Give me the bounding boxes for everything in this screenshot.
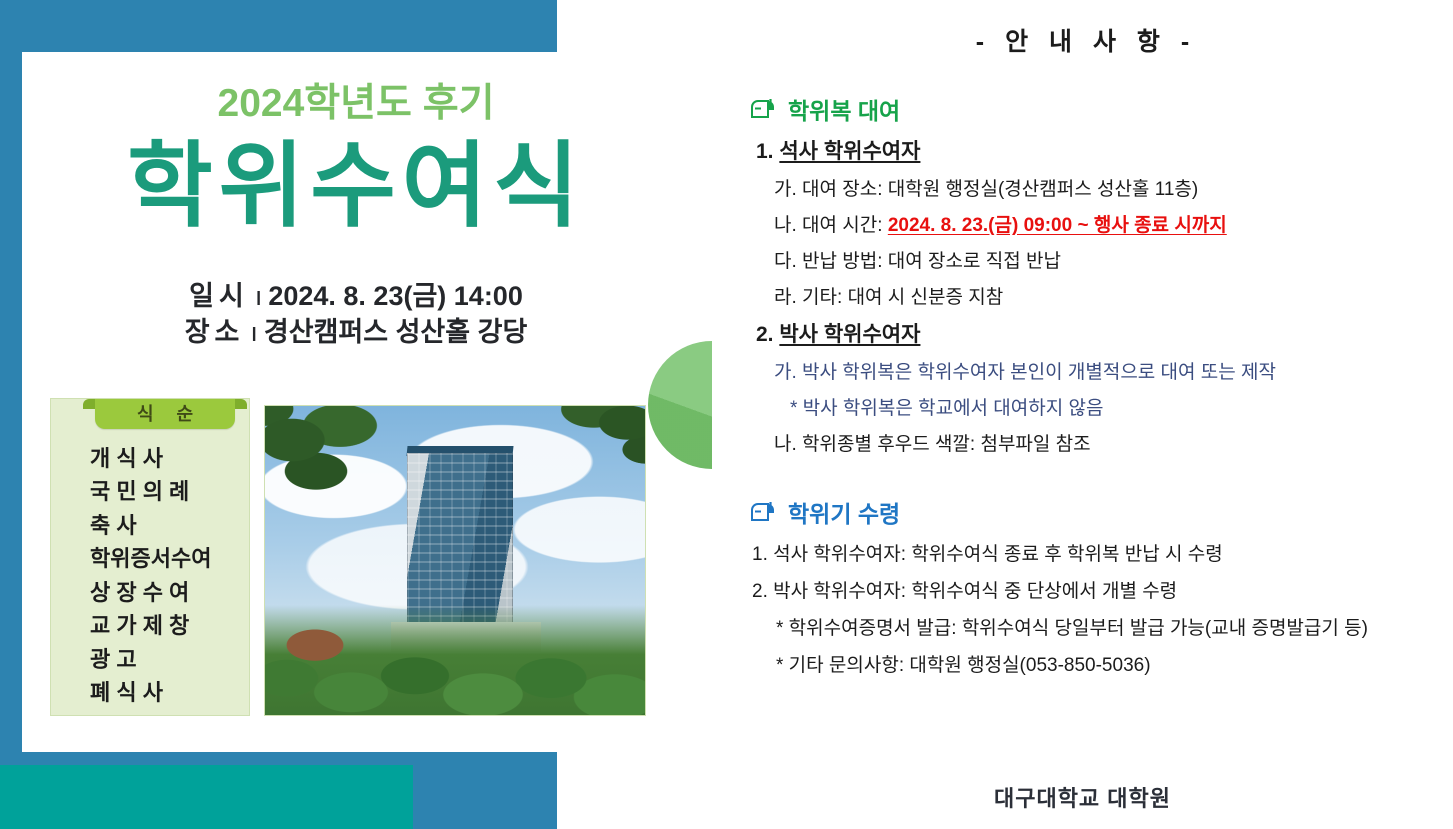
poster-datetime-value: 2024. 8. 23(금) 14:00 bbox=[268, 281, 523, 311]
poster-venue-row: 장소ı경산캠퍼스 성산홀 강당 bbox=[0, 314, 712, 350]
section-diploma-pickup-label: 학위기 수령 bbox=[788, 495, 900, 529]
section-gown-rental-title: 학위복 대여 bbox=[750, 92, 1440, 126]
rental-other-marker: 라. bbox=[774, 287, 797, 308]
diploma-contact-note: * 기타 문의사항: 대학원 행정실(053-850-5036) bbox=[776, 650, 1440, 677]
rental-location-row: 가. 대여 장소: 대학원 행정실(경산캠퍼스 성산홀 11층) bbox=[774, 174, 1440, 201]
program-list: 개 식 사 국 민 의 례 축 사 학위증서수여 상 장 수 여 교 가 제 창… bbox=[60, 442, 240, 710]
mailbox-icon bbox=[750, 501, 776, 523]
doctoral-hood-color-row: 나. 학위종별 후우드 색깔: 첨부파일 참조 bbox=[774, 429, 1440, 456]
program-list-item: 상 장 수 여 bbox=[60, 576, 230, 609]
poster-datetime-label: 일시 bbox=[189, 281, 249, 311]
rental-time-prefix: 대여 시간: bbox=[802, 215, 888, 236]
campus-building-photo bbox=[264, 405, 646, 716]
diploma-certificate-note: * 학위수여증명서 발급: 학위수여식 당일부터 발급 가능(교내 증명발급기 … bbox=[776, 613, 1440, 640]
rental-location-text: 대여 장소: 대학원 행정실(경산캠퍼스 성산홀 11층) bbox=[802, 179, 1198, 200]
rental-other-row: 라. 기타: 대여 시 신분증 지참 bbox=[774, 282, 1440, 309]
doctoral-number: 2. bbox=[756, 323, 774, 346]
masters-label: 석사 학위수여자 bbox=[779, 140, 920, 163]
rental-time-marker: 나. bbox=[774, 215, 797, 236]
poster-teal-block bbox=[0, 765, 413, 829]
mailbox-icon bbox=[750, 98, 776, 120]
program-list-item: 학위증서수여 bbox=[60, 542, 230, 575]
poster-blue-top-band bbox=[0, 0, 557, 52]
program-list-item: 축 사 bbox=[60, 509, 230, 542]
poster-main-title: 학위수여식 bbox=[0, 135, 712, 237]
rental-return-text: 반납 방법: 대여 장소로 직접 반납 bbox=[802, 251, 1061, 272]
section-diploma-pickup-title: 학위기 수령 bbox=[750, 495, 1440, 529]
poster-venue-separator: ı bbox=[244, 317, 264, 347]
notice-body: 학위복 대여 1. 석사 학위수여자 가. 대여 장소: 대학원 행정실(경산캠… bbox=[750, 92, 1440, 687]
rental-time-highlight: 2024. 8. 23.(금) 09:00 ~ 행사 종료 시까지 bbox=[888, 215, 1227, 236]
rental-time-row: 나. 대여 시간: 2024. 8. 23.(금) 09:00 ~ 행사 종료 … bbox=[774, 210, 1440, 237]
poster-datetime-row: 일시ı2024. 8. 23(금) 14:00 bbox=[0, 278, 712, 314]
rental-location-marker: 가. bbox=[774, 179, 797, 200]
graduation-poster: 2024학년도 후기 학위수여식 일시ı2024. 8. 23(금) 14:00… bbox=[0, 0, 712, 829]
notice-footer-organization: 대구대학교 대학원 bbox=[712, 781, 1453, 813]
poster-datetime-separator: ı bbox=[249, 281, 269, 311]
diploma-masters-line: 1. 석사 학위수여자: 학위수여식 종료 후 학위복 반납 시 수령 bbox=[752, 539, 1440, 566]
program-list-item: 개 식 사 bbox=[60, 442, 230, 475]
poster-year-line: 2024학년도 후기 bbox=[0, 84, 712, 123]
program-list-item: 교 가 제 창 bbox=[60, 609, 230, 642]
doctoral-gown-note: * 박사 학위복은 학교에서 대여하지 않음 bbox=[790, 393, 1440, 420]
rental-other-text: 기타: 대여 시 신분증 지참 bbox=[802, 287, 1003, 308]
program-list-item: 국 민 의 례 bbox=[60, 475, 230, 508]
masters-degree-heading: 1. 석사 학위수여자 bbox=[756, 135, 1440, 165]
photo-tree-top-left bbox=[264, 405, 397, 512]
green-half-circle-decoration bbox=[648, 341, 712, 469]
rental-return-row: 다. 반납 방법: 대여 장소로 직접 반납 bbox=[774, 246, 1440, 273]
poster-meta-block: 일시ı2024. 8. 23(금) 14:00 장소ı경산캠퍼스 성산홀 강당 bbox=[0, 278, 712, 351]
photo-tree-top-right bbox=[541, 405, 646, 486]
photo-tree-line bbox=[264, 605, 646, 716]
doctoral-gown-row: 가. 박사 학위복은 학위수여자 본인이 개별적으로 대여 또는 제작 bbox=[774, 357, 1440, 384]
section-gown-rental-label: 학위복 대여 bbox=[788, 92, 900, 126]
doctoral-degree-heading: 2. 박사 학위수여자 bbox=[756, 318, 1440, 348]
notice-panel: - 안 내 사 항 - 학위복 대여 1. 석사 학위수여자 가. 대여 장소:… bbox=[712, 0, 1453, 829]
notice-heading: - 안 내 사 항 - bbox=[712, 22, 1453, 58]
poster-venue-label: 장소 bbox=[185, 317, 245, 347]
poster-venue-value: 경산캠퍼스 성산홀 강당 bbox=[264, 317, 527, 347]
program-ribbon-label: 식 순 bbox=[95, 399, 235, 429]
doctoral-label: 박사 학위수여자 bbox=[779, 323, 920, 346]
program-list-item: 폐 식 사 bbox=[60, 676, 230, 709]
masters-number: 1. bbox=[756, 140, 774, 163]
rental-return-marker: 다. bbox=[774, 251, 797, 272]
section-spacer bbox=[750, 465, 1440, 495]
program-list-item: 광 고 bbox=[60, 643, 230, 676]
diploma-doctoral-line: 2. 박사 학위수여자: 학위수여식 중 단상에서 개별 수령 bbox=[752, 576, 1440, 603]
